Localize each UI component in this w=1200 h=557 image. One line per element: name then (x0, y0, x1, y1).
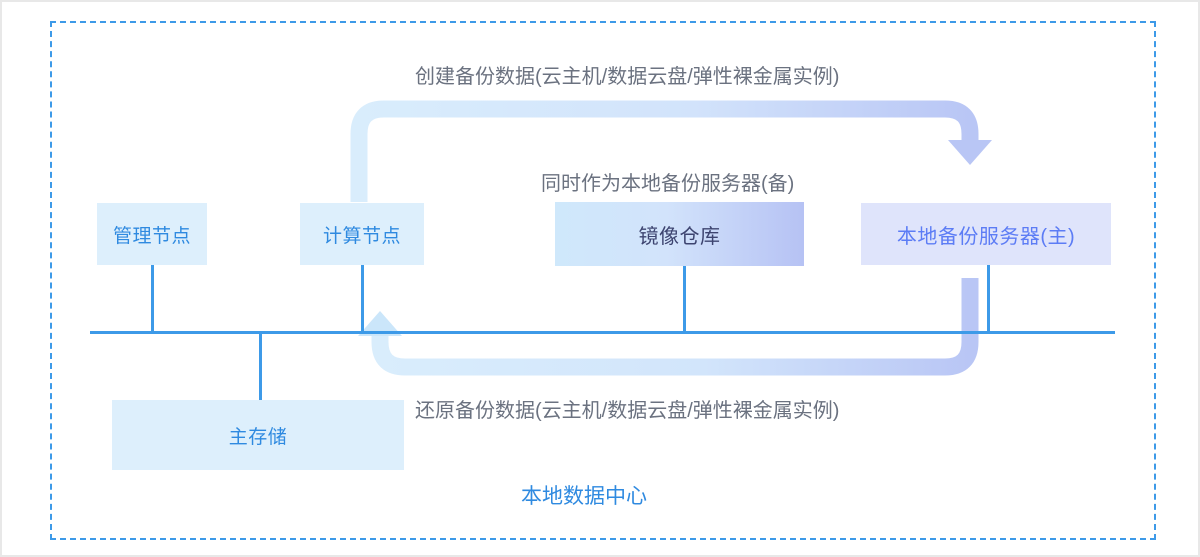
connector-compute-node (361, 265, 364, 332)
node-management-node-label: 管理节点 (113, 221, 191, 248)
connector-local-backup-server (987, 265, 990, 332)
label-restore-backup: 还原备份数据(云主机/数据云盘/弹性裸金属实例) (415, 394, 839, 423)
connector-management-node (151, 265, 154, 332)
node-local-backup-server-label: 本地备份服务器(主) (897, 220, 1075, 249)
node-compute-node[interactable]: 计算节点 (300, 203, 424, 265)
connector-image-registry (683, 266, 686, 332)
node-primary-storage[interactable]: 主存储 (112, 400, 404, 470)
network-bus-line (90, 331, 1115, 334)
node-primary-storage-label: 主存储 (229, 422, 288, 449)
label-also-secondary-backup: 同时作为本地备份服务器(备) (541, 167, 794, 196)
node-image-registry[interactable]: 镜像仓库 (555, 202, 804, 266)
local-data-center-caption: 本地数据中心 (521, 480, 647, 510)
label-create-backup: 创建备份数据(云主机/数据云盘/弹性裸金属实例) (415, 60, 839, 89)
node-image-registry-label: 镜像仓库 (639, 220, 721, 249)
node-compute-node-label: 计算节点 (323, 221, 401, 248)
node-management-node[interactable]: 管理节点 (97, 203, 207, 265)
node-local-backup-server[interactable]: 本地备份服务器(主) (861, 203, 1111, 265)
connector-primary-storage (259, 333, 262, 401)
diagram-canvas: 管理节点 计算节点 镜像仓库 本地备份服务器(主) 主存储 创建备份数据(云主机… (0, 0, 1200, 557)
